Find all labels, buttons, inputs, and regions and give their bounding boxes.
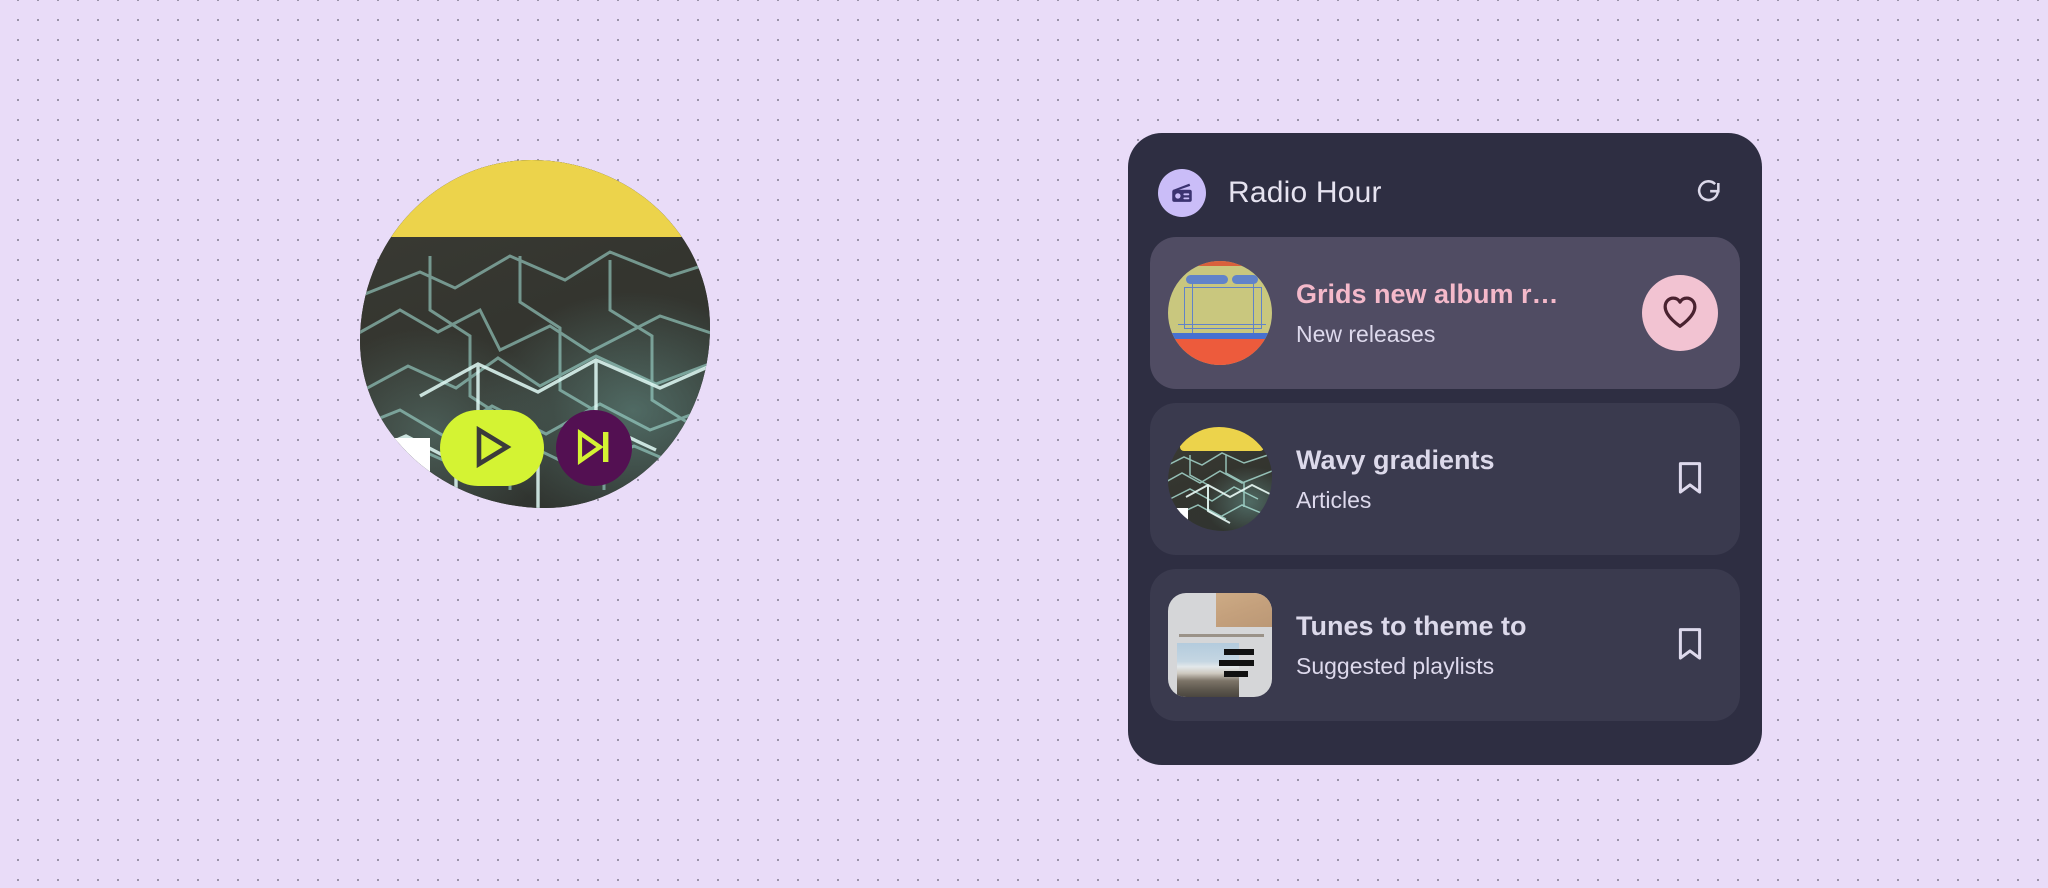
- list-item-text: Grids new album r… New releases: [1296, 278, 1642, 349]
- bookmark-icon: [1675, 460, 1705, 499]
- photo-collage-thumbnail: [1168, 593, 1272, 697]
- next-button[interactable]: [556, 410, 632, 486]
- panel-header: Radio Hour: [1150, 155, 1740, 231]
- list-item-title: Tunes to theme to: [1296, 610, 1662, 644]
- artwork-yellow-band: [360, 160, 710, 237]
- media-player: [360, 160, 710, 520]
- skip-next-icon: [575, 429, 613, 468]
- list-item-text: Wavy gradients Articles: [1296, 444, 1662, 515]
- page-title: Radio Hour: [1228, 176, 1382, 210]
- list-item[interactable]: Grids new album r… New releases: [1150, 237, 1740, 389]
- refresh-icon: [1693, 176, 1725, 211]
- radio-icon: [1158, 169, 1206, 217]
- list-item[interactable]: Wavy gradients Articles: [1150, 403, 1740, 555]
- radio-hour-panel: Radio Hour: [1128, 133, 1762, 765]
- favorite-button[interactable]: [1642, 275, 1718, 351]
- artwork-white-square: [372, 438, 430, 498]
- list-item[interactable]: Tunes to theme to Suggested playlists: [1150, 569, 1740, 721]
- play-icon: [472, 426, 512, 471]
- bookmark-button[interactable]: [1662, 617, 1718, 673]
- play-button[interactable]: [440, 410, 544, 486]
- list-item-title: Grids new album r…: [1296, 278, 1642, 312]
- grid-poster-thumbnail: [1168, 261, 1272, 365]
- bookmark-button[interactable]: [1662, 451, 1718, 507]
- list-item-subtitle: Suggested playlists: [1296, 652, 1662, 681]
- list-item-text: Tunes to theme to Suggested playlists: [1296, 610, 1662, 681]
- list-item-subtitle: New releases: [1296, 320, 1642, 349]
- list-item-subtitle: Articles: [1296, 486, 1662, 515]
- list-item-title: Wavy gradients: [1296, 444, 1662, 478]
- wavy-gradient-thumbnail: [1168, 427, 1272, 531]
- heart-icon: [1661, 295, 1699, 332]
- refresh-button[interactable]: [1688, 172, 1730, 214]
- bookmark-icon: [1675, 626, 1705, 665]
- radio-list: Grids new album r… New releases: [1150, 237, 1740, 721]
